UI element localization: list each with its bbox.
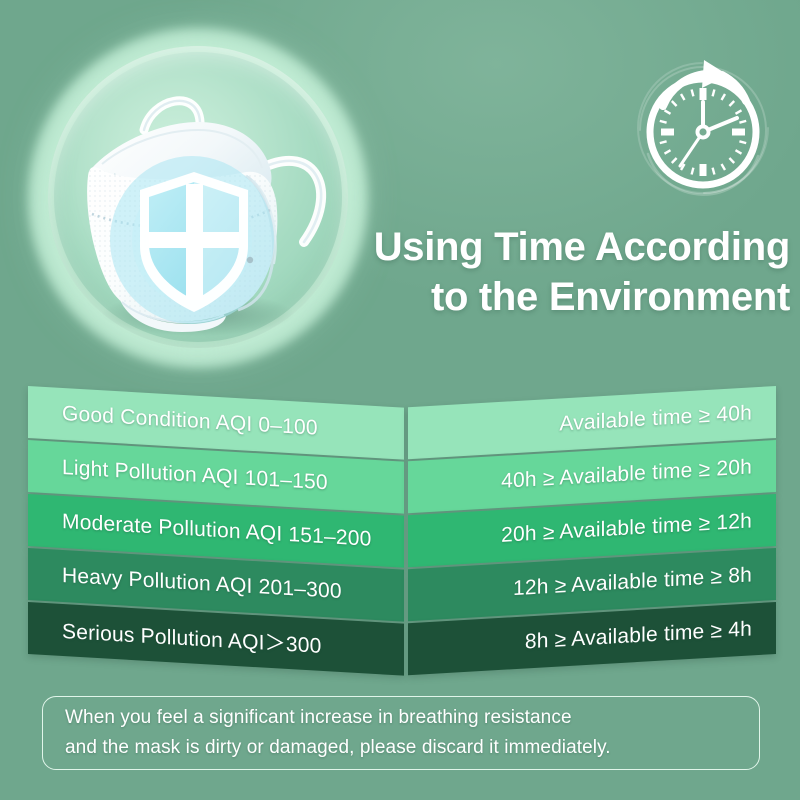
note-line1: When you feel a significant increase in … — [65, 703, 759, 733]
mask-illustration-svg — [48, 64, 348, 344]
available-time-label: Available time ≥ 40h — [559, 401, 752, 436]
aqi-condition-label: Good Condition AQI 0–100 — [62, 402, 318, 441]
available-time-label: 8h ≥ Available time ≥ 4h — [525, 617, 752, 654]
kn95-mask-image — [48, 64, 348, 344]
note-line2: and the mask is dirty or damaged, please… — [65, 733, 759, 763]
discard-warning-note: When you feel a significant increase in … — [42, 696, 760, 770]
page-title-line1: Using Time According — [372, 222, 790, 272]
aqi-condition-label: Serious Pollution AQI＞300 — [62, 615, 321, 660]
aqi-condition-label: Heavy Pollution AQI 201–300 — [62, 564, 342, 604]
mask-hero-visual — [18, 18, 378, 378]
page-title-line2: to the Environment — [372, 272, 790, 322]
page-title: Using Time According to the Environment — [372, 222, 790, 322]
aqi-usage-table: Good Condition AQI 0–100 Light Pollution… — [0, 382, 800, 672]
clock-arrow-icon — [618, 44, 788, 214]
aqi-condition-label: Moderate Pollution AQI 151–200 — [62, 510, 372, 552]
available-time-label: 20h ≥ Available time ≥ 12h — [501, 509, 752, 547]
aqi-condition-label: Light Pollution AQI 101–150 — [62, 456, 328, 495]
clock-icon-svg — [618, 44, 788, 214]
available-time-label: 40h ≥ Available time ≥ 20h — [501, 455, 752, 493]
poster-root: Using Time According to the Environment … — [0, 0, 800, 800]
available-time-label: 12h ≥ Available time ≥ 8h — [513, 563, 752, 601]
